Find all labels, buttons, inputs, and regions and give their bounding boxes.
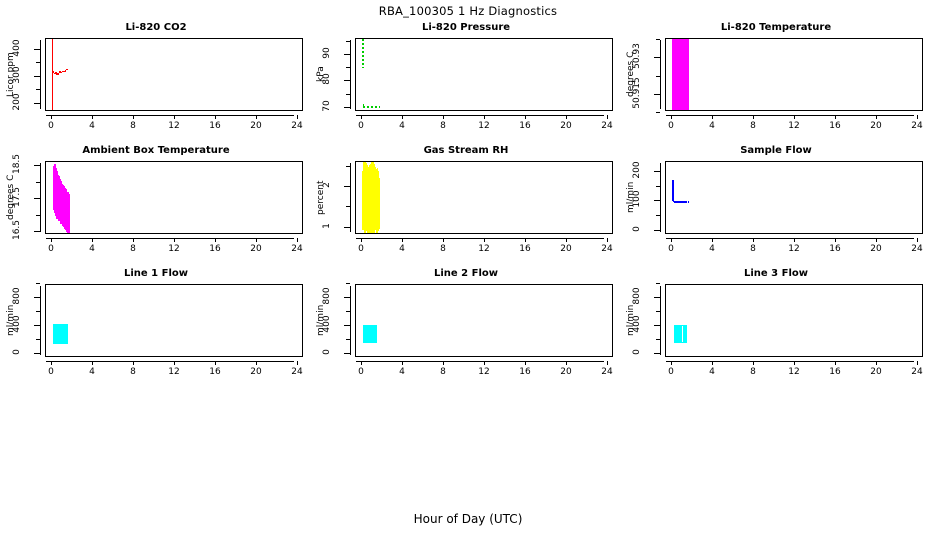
x-tick-line-2-flow-0 — [361, 361, 362, 365]
x-tick-label-gas-stream-rh-4: 16 — [514, 244, 536, 254]
x-tick-line-1-flow-5 — [256, 361, 257, 365]
x-tick-label-ambient-box-temperature-6: 24 — [286, 244, 308, 254]
x-tick-ambient-box-temperature-2 — [133, 238, 134, 242]
data-segment-sample-flow-11 — [688, 201, 690, 203]
panel-sample-flow: Sample Flow0100200ml/min04812162024 — [620, 145, 932, 268]
y-axis-title-li820-co2: Licor ppm — [6, 38, 16, 111]
x-tick-label-li820-pressure-0: 0 — [350, 121, 372, 131]
y-minor-tick-line-3-flow-0 — [656, 339, 660, 340]
y-tick-li820-co2-0 — [34, 103, 40, 104]
x-tick-li820-temperature-3 — [794, 115, 795, 119]
x-tick-label-sample-flow-5: 20 — [865, 244, 887, 254]
y-minor-tick-line-2-flow-0 — [346, 339, 350, 340]
y-tick-ambient-box-temperature-1 — [34, 198, 40, 199]
data-bar-gas-stream-rh-79 — [379, 178, 380, 229]
x-tick-label-line-1-flow-2: 8 — [122, 367, 144, 377]
x-tick-li820-co2-5 — [256, 115, 257, 119]
x-tick-label-li820-pressure-4: 16 — [514, 121, 536, 131]
plot-area-li820-co2 — [45, 38, 303, 111]
x-tick-label-li820-temperature-4: 16 — [824, 121, 846, 131]
y-minor-tick-end-line-3-flow-1 — [656, 283, 660, 284]
y-tick-li820-co2-2 — [34, 49, 40, 50]
x-tick-label-li820-co2-2: 8 — [122, 121, 144, 131]
x-tick-label-sample-flow-6: 24 — [906, 244, 928, 254]
x-tick-li820-co2-6 — [297, 115, 298, 119]
x-tick-label-li820-temperature-3: 12 — [783, 121, 805, 131]
panel-title-sample-flow: Sample Flow — [620, 145, 932, 156]
panel-line-2-flow: Line 2 Flow0400800ml/min04812162024 — [310, 268, 622, 391]
y-minor-tick-end-line-2-flow-1 — [346, 283, 350, 284]
x-tick-label-li820-temperature-2: 8 — [742, 121, 764, 131]
y-minor-tick-end-li820-temperature-0 — [656, 112, 660, 113]
x-tick-label-line-2-flow-5: 20 — [555, 367, 577, 377]
x-tick-sample-flow-0 — [671, 238, 672, 242]
y-minor-tick-end-li820-temperature-1 — [656, 39, 660, 40]
x-tick-sample-flow-6 — [917, 238, 918, 242]
y-tick-gas-stream-rh-0 — [344, 227, 350, 228]
x-tick-label-line-1-flow-4: 16 — [204, 367, 226, 377]
panel-ambient-box-temperature: Ambient Box Temperature16.517.518.5degre… — [0, 145, 312, 268]
x-tick-li820-pressure-3 — [484, 115, 485, 119]
x-tick-label-gas-stream-rh-5: 20 — [555, 244, 577, 254]
x-tick-line-3-flow-0 — [671, 361, 672, 365]
panel-title-gas-stream-rh: Gas Stream RH — [310, 145, 622, 156]
x-tick-label-line-3-flow-2: 8 — [742, 367, 764, 377]
x-tick-label-line-2-flow-3: 12 — [473, 367, 495, 377]
y-axis-line-li820-co2 — [40, 40, 41, 109]
y-tick-sample-flow-2 — [654, 171, 660, 172]
plot-area-line-2-flow — [355, 284, 613, 357]
x-tick-li820-co2-3 — [174, 115, 175, 119]
x-tick-label-line-2-flow-1: 4 — [391, 367, 413, 377]
x-tick-label-line-3-flow-3: 12 — [783, 367, 805, 377]
x-tick-label-li820-pressure-2: 8 — [432, 121, 454, 131]
x-tick-ambient-box-temperature-6 — [297, 238, 298, 242]
x-tick-label-gas-stream-rh-0: 0 — [350, 244, 372, 254]
x-tick-label-ambient-box-temperature-1: 4 — [81, 244, 103, 254]
x-tick-sample-flow-5 — [876, 238, 877, 242]
y-minor-tick-line-3-flow-1 — [656, 311, 660, 312]
x-tick-ambient-box-temperature-5 — [256, 238, 257, 242]
x-tick-sample-flow-2 — [753, 238, 754, 242]
y-minor-tick-end-line-1-flow-1 — [36, 283, 40, 284]
panel-title-line-2-flow: Line 2 Flow — [310, 268, 622, 279]
y-axis-line-li820-pressure — [350, 40, 351, 109]
panel-li820-temperature: Li-820 Temperature50.91550.93degrees C04… — [620, 22, 932, 145]
x-tick-label-li820-temperature-5: 20 — [865, 121, 887, 131]
data-block-line-3-flow — [674, 325, 688, 344]
x-tick-line-3-flow-6 — [917, 361, 918, 365]
x-tick-label-line-1-flow-1: 4 — [81, 367, 103, 377]
x-tick-line-1-flow-4 — [215, 361, 216, 365]
x-tick-label-line-1-flow-0: 0 — [40, 367, 62, 377]
y-minor-tick-line-2-flow-1 — [346, 311, 350, 312]
y-minor-tick-li820-temperature-0 — [656, 76, 660, 77]
x-tick-label-ambient-box-temperature-0: 0 — [40, 244, 62, 254]
y-axis-title-sample-flow: ml/min — [626, 161, 636, 234]
x-tick-line-2-flow-4 — [525, 361, 526, 365]
data-spike-li820-co2 — [52, 39, 53, 110]
data-plateau-li820-pressure — [363, 106, 380, 108]
x-tick-line-3-flow-2 — [753, 361, 754, 365]
x-tick-label-li820-co2-4: 16 — [204, 121, 226, 131]
x-tick-label-sample-flow-1: 4 — [701, 244, 723, 254]
y-tick-line-2-flow-2 — [344, 297, 350, 298]
y-minor-tick-gas-stream-rh-0 — [346, 206, 350, 207]
panel-gas-stream-rh: Gas Stream RH12percent04812162024 — [310, 145, 622, 268]
x-tick-line-2-flow-5 — [566, 361, 567, 365]
x-tick-gas-stream-rh-6 — [607, 238, 608, 242]
y-tick-line-1-flow-2 — [34, 297, 40, 298]
x-tick-label-line-2-flow-0: 0 — [350, 367, 372, 377]
y-axis-line-ambient-box-temperature — [40, 163, 41, 232]
x-tick-sample-flow-3 — [794, 238, 795, 242]
x-tick-label-line-2-flow-2: 8 — [432, 367, 454, 377]
y-minor-tick-li820-pressure-0 — [346, 94, 350, 95]
y-axis-line-gas-stream-rh — [350, 163, 351, 232]
x-tick-line-3-flow-3 — [794, 361, 795, 365]
y-minor-tick-end-gas-stream-rh-1 — [346, 166, 350, 167]
y-tick-ambient-box-temperature-0 — [34, 231, 40, 232]
y-tick-line-1-flow-1 — [34, 325, 40, 326]
x-tick-sample-flow-1 — [712, 238, 713, 242]
x-tick-li820-co2-1 — [92, 115, 93, 119]
data-block-li820-temperature — [672, 39, 689, 110]
x-tick-ambient-box-temperature-4 — [215, 238, 216, 242]
y-axis-line-line-2-flow — [350, 286, 351, 355]
x-tick-label-li820-co2-5: 20 — [245, 121, 267, 131]
y-axis-title-line-1-flow: ml/min — [6, 284, 16, 357]
y-tick-line-3-flow-0 — [654, 353, 660, 354]
x-tick-line-1-flow-6 — [297, 361, 298, 365]
y-tick-line-3-flow-1 — [654, 325, 660, 326]
data-segment-li820-co2-13 — [65, 70, 66, 71]
x-tick-line-2-flow-3 — [484, 361, 485, 365]
x-tick-label-line-2-flow-4: 16 — [514, 367, 536, 377]
y-tick-li820-pressure-2 — [344, 54, 350, 55]
x-tick-line-1-flow-3 — [174, 361, 175, 365]
x-tick-li820-pressure-6 — [607, 115, 608, 119]
x-tick-sample-flow-4 — [835, 238, 836, 242]
x-tick-label-line-1-flow-5: 20 — [245, 367, 267, 377]
panel-li820-co2: Li-820 CO2200300400Licor ppm04812162024 — [0, 22, 312, 145]
panel-title-line-1-flow: Line 1 Flow — [0, 268, 312, 279]
x-tick-label-ambient-box-temperature-2: 8 — [122, 244, 144, 254]
x-tick-label-li820-pressure-6: 24 — [596, 121, 618, 131]
y-axis-title-li820-temperature: degrees C — [626, 38, 636, 111]
x-tick-label-li820-pressure-5: 20 — [555, 121, 577, 131]
data-spike-li820-pressure — [362, 39, 364, 68]
x-tick-li820-co2-0 — [51, 115, 52, 119]
x-tick-li820-temperature-2 — [753, 115, 754, 119]
x-tick-line-2-flow-6 — [607, 361, 608, 365]
y-tick-line-2-flow-1 — [344, 325, 350, 326]
panel-line-1-flow: Line 1 Flow0400800ml/min04812162024 — [0, 268, 312, 391]
x-tick-label-gas-stream-rh-2: 8 — [432, 244, 454, 254]
y-axis-line-line-1-flow — [40, 286, 41, 355]
y-minor-tick-li820-co2-1 — [36, 62, 40, 63]
y-tick-li820-temperature-0 — [654, 94, 660, 95]
y-tick-line-3-flow-2 — [654, 297, 660, 298]
panel-title-ambient-box-temperature: Ambient Box Temperature — [0, 145, 312, 156]
x-tick-ambient-box-temperature-1 — [92, 238, 93, 242]
y-axis-title-gas-stream-rh: percent — [316, 161, 326, 234]
x-tick-label-line-3-flow-6: 24 — [906, 367, 928, 377]
x-tick-label-ambient-box-temperature-5: 20 — [245, 244, 267, 254]
x-tick-label-line-2-flow-6: 24 — [596, 367, 618, 377]
y-axis-line-sample-flow — [660, 163, 661, 232]
panel-title-li820-pressure: Li-820 Pressure — [310, 22, 622, 33]
x-tick-label-li820-pressure-3: 12 — [473, 121, 495, 131]
x-tick-gas-stream-rh-0 — [361, 238, 362, 242]
x-tick-label-ambient-box-temperature-4: 16 — [204, 244, 226, 254]
y-axis-title-li820-pressure: kPa — [316, 38, 326, 111]
x-tick-li820-pressure-1 — [402, 115, 403, 119]
y-minor-tick-line-1-flow-0 — [36, 339, 40, 340]
y-tick-li820-co2-1 — [34, 76, 40, 77]
x-tick-line-3-flow-4 — [835, 361, 836, 365]
y-tick-li820-temperature-1 — [654, 57, 660, 58]
panel-title-li820-co2: Li-820 CO2 — [0, 22, 312, 33]
plot-area-ambient-box-temperature — [45, 161, 303, 234]
panel-li820-pressure: Li-820 Pressure708090kPa04812162024 — [310, 22, 622, 145]
y-minor-tick-sample-flow-0 — [656, 215, 660, 216]
plot-area-gas-stream-rh — [355, 161, 613, 234]
x-tick-li820-pressure-2 — [443, 115, 444, 119]
x-tick-label-line-1-flow-6: 24 — [286, 367, 308, 377]
x-tick-li820-temperature-1 — [712, 115, 713, 119]
y-axis-title-line-3-flow: ml/min — [626, 284, 636, 357]
x-tick-line-3-flow-5 — [876, 361, 877, 365]
x-tick-label-li820-co2-3: 12 — [163, 121, 185, 131]
x-tick-line-2-flow-1 — [402, 361, 403, 365]
x-tick-li820-temperature-6 — [917, 115, 918, 119]
x-tick-line-1-flow-0 — [51, 361, 52, 365]
y-minor-tick-line-1-flow-1 — [36, 311, 40, 312]
x-tick-label-gas-stream-rh-1: 4 — [391, 244, 413, 254]
y-tick-line-2-flow-0 — [344, 353, 350, 354]
x-tick-label-li820-temperature-6: 24 — [906, 121, 928, 131]
x-tick-label-sample-flow-3: 12 — [783, 244, 805, 254]
y-tick-line-1-flow-0 — [34, 353, 40, 354]
data-bar-ambient-box-temperature-77 — [69, 197, 70, 231]
y-minor-tick-ambient-box-temperature-1 — [36, 182, 40, 183]
x-tick-gas-stream-rh-5 — [566, 238, 567, 242]
plot-area-li820-temperature — [665, 38, 923, 111]
panel-line-3-flow: Line 3 Flow0400800ml/min04812162024 — [620, 268, 932, 391]
x-tick-gas-stream-rh-2 — [443, 238, 444, 242]
data-segment-li820-co2-10 — [61, 72, 62, 73]
x-tick-li820-pressure-4 — [525, 115, 526, 119]
data-segment-li820-co2-7 — [57, 73, 58, 75]
x-tick-label-line-3-flow-5: 20 — [865, 367, 887, 377]
x-tick-label-li820-co2-0: 0 — [40, 121, 62, 131]
data-segment-li820-co2-15 — [67, 69, 68, 70]
y-tick-sample-flow-0 — [654, 230, 660, 231]
x-tick-li820-temperature-4 — [835, 115, 836, 119]
y-minor-tick-li820-pressure-1 — [346, 67, 350, 68]
data-riser-li820-pressure — [363, 104, 364, 107]
plot-area-li820-pressure — [355, 38, 613, 111]
y-minor-tick-end-li820-pressure-1 — [346, 41, 350, 42]
x-tick-li820-co2-2 — [133, 115, 134, 119]
x-tick-label-line-3-flow-4: 16 — [824, 367, 846, 377]
x-tick-gas-stream-rh-4 — [525, 238, 526, 242]
x-tick-li820-co2-4 — [215, 115, 216, 119]
panel-title-line-3-flow: Line 3 Flow — [620, 268, 932, 279]
plot-area-line-1-flow — [45, 284, 303, 357]
y-tick-li820-pressure-0 — [344, 107, 350, 108]
x-tick-label-li820-pressure-1: 4 — [391, 121, 413, 131]
x-tick-line-2-flow-2 — [443, 361, 444, 365]
y-axis-line-line-3-flow — [660, 286, 661, 355]
y-tick-li820-pressure-1 — [344, 80, 350, 81]
x-tick-gas-stream-rh-1 — [402, 238, 403, 242]
x-tick-ambient-box-temperature-0 — [51, 238, 52, 242]
x-tick-line-1-flow-1 — [92, 361, 93, 365]
y-minor-tick-sample-flow-1 — [656, 186, 660, 187]
y-axis-line-li820-temperature — [660, 40, 661, 109]
data-gap-line-3-flow — [682, 326, 683, 343]
data-block-line-2-flow — [363, 325, 377, 344]
x-tick-label-li820-co2-1: 4 — [81, 121, 103, 131]
x-tick-label-li820-temperature-1: 4 — [701, 121, 723, 131]
x-tick-gas-stream-rh-3 — [484, 238, 485, 242]
panel-title-li820-temperature: Li-820 Temperature — [620, 22, 932, 33]
y-minor-tick-li820-co2-0 — [36, 89, 40, 90]
data-block-line-1-flow — [53, 324, 68, 344]
data-segment-sample-flow-1 — [672, 187, 674, 196]
x-tick-li820-pressure-0 — [361, 115, 362, 119]
x-tick-label-sample-flow-4: 16 — [824, 244, 846, 254]
x-tick-label-li820-co2-6: 24 — [286, 121, 308, 131]
y-tick-sample-flow-1 — [654, 200, 660, 201]
x-tick-label-li820-temperature-0: 0 — [660, 121, 682, 131]
x-tick-line-1-flow-2 — [133, 361, 134, 365]
x-tick-li820-temperature-5 — [876, 115, 877, 119]
y-minor-tick-ambient-box-temperature-0 — [36, 215, 40, 216]
plot-area-sample-flow — [665, 161, 923, 234]
x-tick-label-gas-stream-rh-3: 12 — [473, 244, 495, 254]
x-tick-ambient-box-temperature-3 — [174, 238, 175, 242]
x-tick-li820-temperature-0 — [671, 115, 672, 119]
x-tick-label-gas-stream-rh-6: 24 — [596, 244, 618, 254]
x-tick-li820-pressure-5 — [566, 115, 567, 119]
y-tick-ambient-box-temperature-2 — [34, 165, 40, 166]
x-tick-label-line-3-flow-1: 4 — [701, 367, 723, 377]
x-tick-label-line-3-flow-0: 0 — [660, 367, 682, 377]
x-tick-line-3-flow-1 — [712, 361, 713, 365]
plot-area-line-3-flow — [665, 284, 923, 357]
x-tick-label-sample-flow-2: 8 — [742, 244, 764, 254]
panel-grid: Li-820 CO2200300400Licor ppm04812162024L… — [0, 0, 936, 400]
y-axis-title-ambient-box-temperature: degrees C — [6, 161, 16, 234]
x-tick-label-line-1-flow-3: 12 — [163, 367, 185, 377]
x-axis-caption: Hour of Day (UTC) — [0, 512, 936, 526]
x-tick-label-ambient-box-temperature-3: 12 — [163, 244, 185, 254]
y-axis-title-line-2-flow: ml/min — [316, 284, 326, 357]
x-tick-label-sample-flow-0: 0 — [660, 244, 682, 254]
y-tick-gas-stream-rh-1 — [344, 186, 350, 187]
